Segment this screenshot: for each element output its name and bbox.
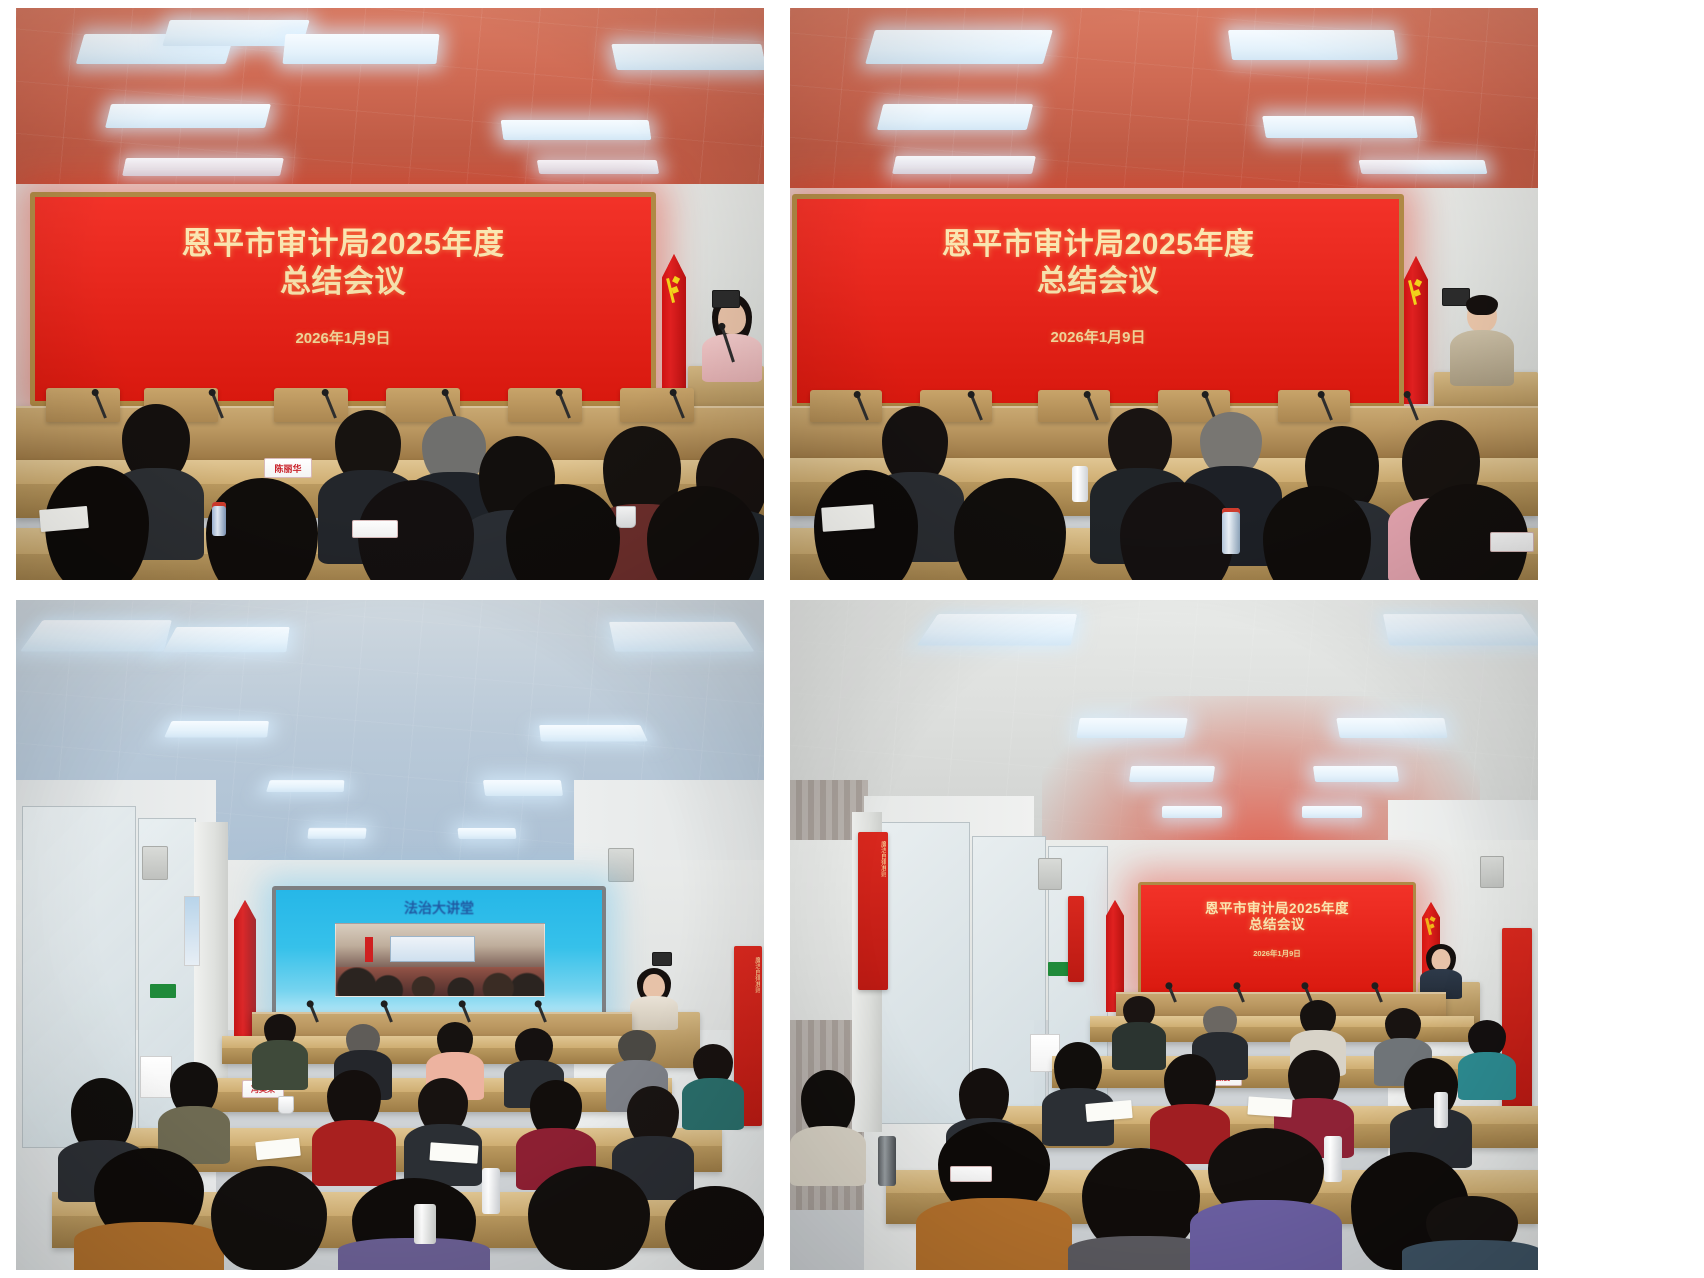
presenter-person-bl <box>630 968 678 1024</box>
meeting-room-scene-tl: 恩平市审计局2025年度 总结会议 2026年1月9日 <box>16 8 764 580</box>
thermos-bottle <box>482 1168 500 1214</box>
ceiling-light <box>457 828 516 839</box>
thermos-bottle <box>878 1136 896 1186</box>
ceiling-light <box>865 30 1053 64</box>
hair <box>647 486 759 580</box>
desk-nameplate <box>352 520 398 538</box>
mini-screen <box>390 936 475 962</box>
hair <box>506 484 620 580</box>
ceiling-light <box>122 158 284 176</box>
ceiling-light <box>1076 718 1188 738</box>
audience-person-foreground <box>942 478 1078 580</box>
thermos-bottle <box>414 1204 436 1244</box>
desk-nameplate <box>950 1166 992 1182</box>
hair <box>618 1030 656 1064</box>
wall-notice <box>184 896 200 966</box>
ceiling-light <box>1162 806 1222 818</box>
hair <box>665 1186 764 1270</box>
led-screen-subtitle: 总结会议 <box>1249 917 1305 933</box>
mini-flag <box>365 937 373 961</box>
photo-panel-top-left[interactable]: 恩平市审计局2025年度 总结会议 2026年1月9日 <box>16 8 764 580</box>
hair <box>1300 1000 1336 1034</box>
ceiling-light <box>20 620 172 651</box>
ceiling-light <box>266 780 344 792</box>
party-flag-tl <box>662 254 686 400</box>
audience-person-foreground <box>636 486 764 580</box>
party-flag-tr <box>1404 256 1428 404</box>
hair <box>1466 295 1498 315</box>
audience-person <box>404 1078 482 1182</box>
document-paper <box>1247 1096 1292 1117</box>
wall-banner-text: 廉洁自律准则 <box>860 841 885 980</box>
torso <box>916 1198 1072 1270</box>
party-emblem-icon <box>1408 277 1423 313</box>
speaker-person-tr <box>1450 298 1514 382</box>
led-screen-title: 恩平市审计局2025年度 <box>942 227 1255 264</box>
presenter-person-br <box>1420 944 1462 992</box>
document-paper <box>821 504 875 532</box>
head <box>1432 949 1451 970</box>
led-screen-date: 2026年1月9日 <box>295 327 390 348</box>
wall-banner-small <box>1068 896 1084 982</box>
hair <box>1200 412 1262 474</box>
audience-person-foreground <box>1402 1196 1538 1270</box>
hair <box>801 1070 855 1134</box>
ceiling-light <box>611 44 764 70</box>
ceiling-light <box>164 721 269 737</box>
photo-panel-top-right[interactable]: 恩平市审计局2025年度 总结会议 2026年1月9日 <box>790 8 1538 580</box>
tea-cup <box>278 1096 294 1114</box>
audience-person <box>252 1014 308 1084</box>
audience-person-foreground <box>494 484 632 580</box>
party-emblem-icon <box>666 274 681 309</box>
torso <box>1190 1200 1342 1270</box>
torso <box>630 996 678 1030</box>
wall-speaker <box>142 846 168 880</box>
meeting-room-scene-br: 廉洁自律准则 恩平市审计局2025年度 总结会议 2026年1月9日 <box>790 600 1538 1270</box>
audience-person-foreground <box>656 1186 764 1270</box>
ceiling-light <box>105 104 271 128</box>
meeting-room-scene-tr: 恩平市审计局2025年度 总结会议 2026年1月9日 <box>790 8 1538 580</box>
mini-crowd <box>336 967 545 996</box>
audience-person <box>312 1070 396 1180</box>
wall-speaker <box>712 290 740 308</box>
hair <box>1263 486 1371 580</box>
ceiling-light <box>483 780 563 796</box>
torso <box>790 1126 866 1186</box>
audience-person-foreground <box>1252 486 1382 580</box>
ceiling-light <box>307 828 366 839</box>
exit-sign-icon <box>150 984 176 998</box>
led-screen-title: 法治大讲堂 <box>276 898 602 918</box>
hair <box>528 1166 650 1270</box>
tea-cup <box>616 506 636 528</box>
ceiling-light <box>1313 766 1399 782</box>
ceiling-light <box>163 627 290 652</box>
audience-person <box>790 1070 866 1180</box>
water-bottle <box>212 502 226 536</box>
led-screen-subtitle: 总结会议 <box>1037 264 1159 301</box>
ceiling-light <box>501 120 652 140</box>
hair <box>1385 1008 1421 1042</box>
screen-embedded-photo <box>335 923 546 997</box>
water-bottle <box>1072 466 1088 502</box>
ceiling-light <box>1129 766 1215 782</box>
led-screen-tr[interactable]: 恩平市审计局2025年度 总结会议 2026年1月9日 <box>792 194 1404 408</box>
led-screen-title: 恩平市审计局2025年度 <box>1205 901 1349 917</box>
ceiling-light <box>537 160 659 174</box>
hair <box>954 478 1066 580</box>
ceiling-light <box>1228 30 1398 60</box>
photo-panel-bottom-left[interactable]: 法治大讲堂 廉洁自律准则 <box>16 600 764 1270</box>
ceiling-light <box>877 104 1033 130</box>
rostrum-chair <box>1278 390 1350 422</box>
led-screen-title: 恩平市审计局2025年度 <box>182 225 505 263</box>
ceiling-light <box>1336 718 1448 738</box>
photo-panel-bottom-right[interactable]: 廉洁自律准则 恩平市审计局2025年度 总结会议 2026年1月9日 <box>790 600 1538 1270</box>
photo-collage: 恩平市审计局2025年度 总结会议 2026年1月9日 <box>0 0 1704 1278</box>
led-screen-date: 2026年1月9日 <box>1050 326 1145 347</box>
hair <box>1468 1020 1506 1056</box>
wall-speaker <box>1038 858 1062 890</box>
wall-banner-left: 廉洁自律准则 <box>858 832 888 990</box>
led-screen-tl[interactable]: 恩平市审计局2025年度 总结会议 2026年1月9日 <box>30 192 656 406</box>
ceiling-light <box>539 725 648 741</box>
led-screen-bl[interactable]: 法治大讲堂 <box>272 886 606 1022</box>
thermos-bottle <box>1222 508 1240 554</box>
thermos-bottle <box>1324 1136 1342 1182</box>
ceiling-light <box>1383 614 1538 645</box>
audience-person <box>1390 1058 1472 1164</box>
torso <box>1402 1240 1538 1270</box>
document-paper <box>39 506 89 532</box>
party-emblem-icon <box>1425 915 1437 939</box>
wall-speaker <box>1480 856 1504 888</box>
led-screen-date: 2026年1月9日 <box>1253 948 1301 959</box>
hair <box>1120 482 1234 580</box>
torso <box>252 1040 308 1090</box>
water-bottle <box>1434 1092 1448 1128</box>
audience-person-foreground <box>916 1122 1072 1270</box>
hair <box>211 1166 327 1270</box>
desk-nameplate <box>1490 532 1534 552</box>
ceiling-light <box>1302 806 1362 818</box>
audience-person-foreground <box>514 1166 664 1270</box>
torso <box>1450 330 1514 386</box>
nameplate-tl: 陈丽华 <box>264 458 312 478</box>
ceiling-light <box>1262 116 1418 138</box>
document-paper <box>429 1142 478 1163</box>
wall-speaker <box>652 952 672 966</box>
ceiling-light <box>282 34 439 64</box>
ceiling-light <box>609 622 754 652</box>
ceiling-light <box>917 614 1077 645</box>
led-screen-subtitle: 总结会议 <box>280 263 406 301</box>
ceiling-light <box>1359 160 1488 174</box>
audience-person-foreground <box>1190 1128 1342 1270</box>
audience-person-foreground <box>198 1166 340 1270</box>
ceiling-light <box>892 156 1036 174</box>
wall-speaker <box>608 848 634 882</box>
head <box>643 974 665 998</box>
meeting-room-scene-bl: 法治大讲堂 廉洁自律准则 <box>16 600 764 1270</box>
audience-person <box>158 1062 230 1158</box>
